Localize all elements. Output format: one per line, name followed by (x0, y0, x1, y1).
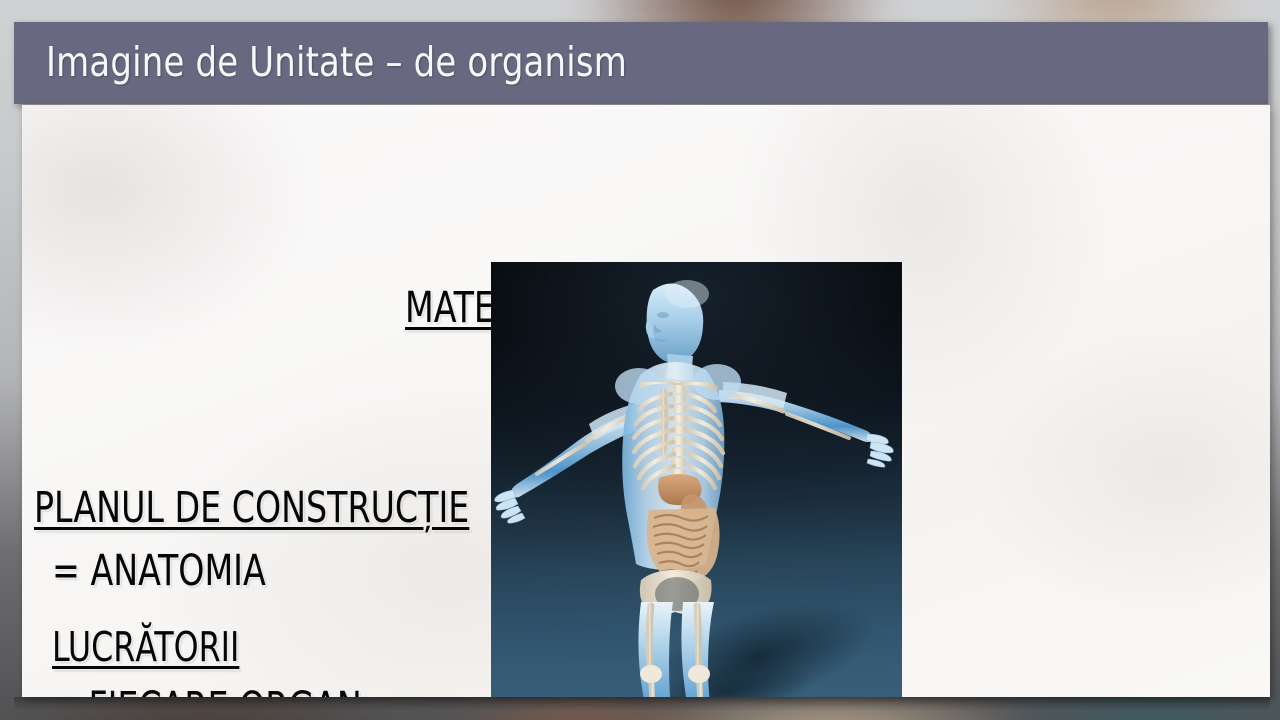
slide-body: MATERIALUL = CHIMIA PLANUL DE CONSTRUCȚI… (22, 105, 1270, 697)
workers-line: LUCRĂTORII (52, 623, 270, 671)
plan-line: PLANUL DE CONSTRUCȚIE (34, 483, 540, 533)
anatomy-image (491, 262, 902, 697)
workers-label: LUCRĂTORII (52, 623, 239, 671)
slide-title-bar: Imagine de Unitate – de organism (14, 22, 1268, 104)
slide-bottom-shadow (14, 697, 1270, 711)
slide-title-text: Imagine de Unitate – de organism (46, 38, 627, 86)
anatomy-figure-graphic (491, 262, 902, 697)
organ-line: = FIECARE ORGAN (50, 683, 413, 697)
organ-value: = FIECARE ORGAN (50, 683, 362, 697)
anatomy-value: = ANATOMIA (52, 546, 266, 596)
plan-label: PLANUL DE CONSTRUCȚIE (34, 483, 469, 533)
slide-title: Imagine de Unitate – de organism (46, 38, 677, 86)
anatomy-line: = ANATOMIA (52, 546, 301, 596)
slide-stage: Imagine de Unitate – de organism MATERIA… (0, 0, 1280, 720)
presentation-slide: Imagine de Unitate – de organism MATERIA… (14, 22, 1270, 697)
